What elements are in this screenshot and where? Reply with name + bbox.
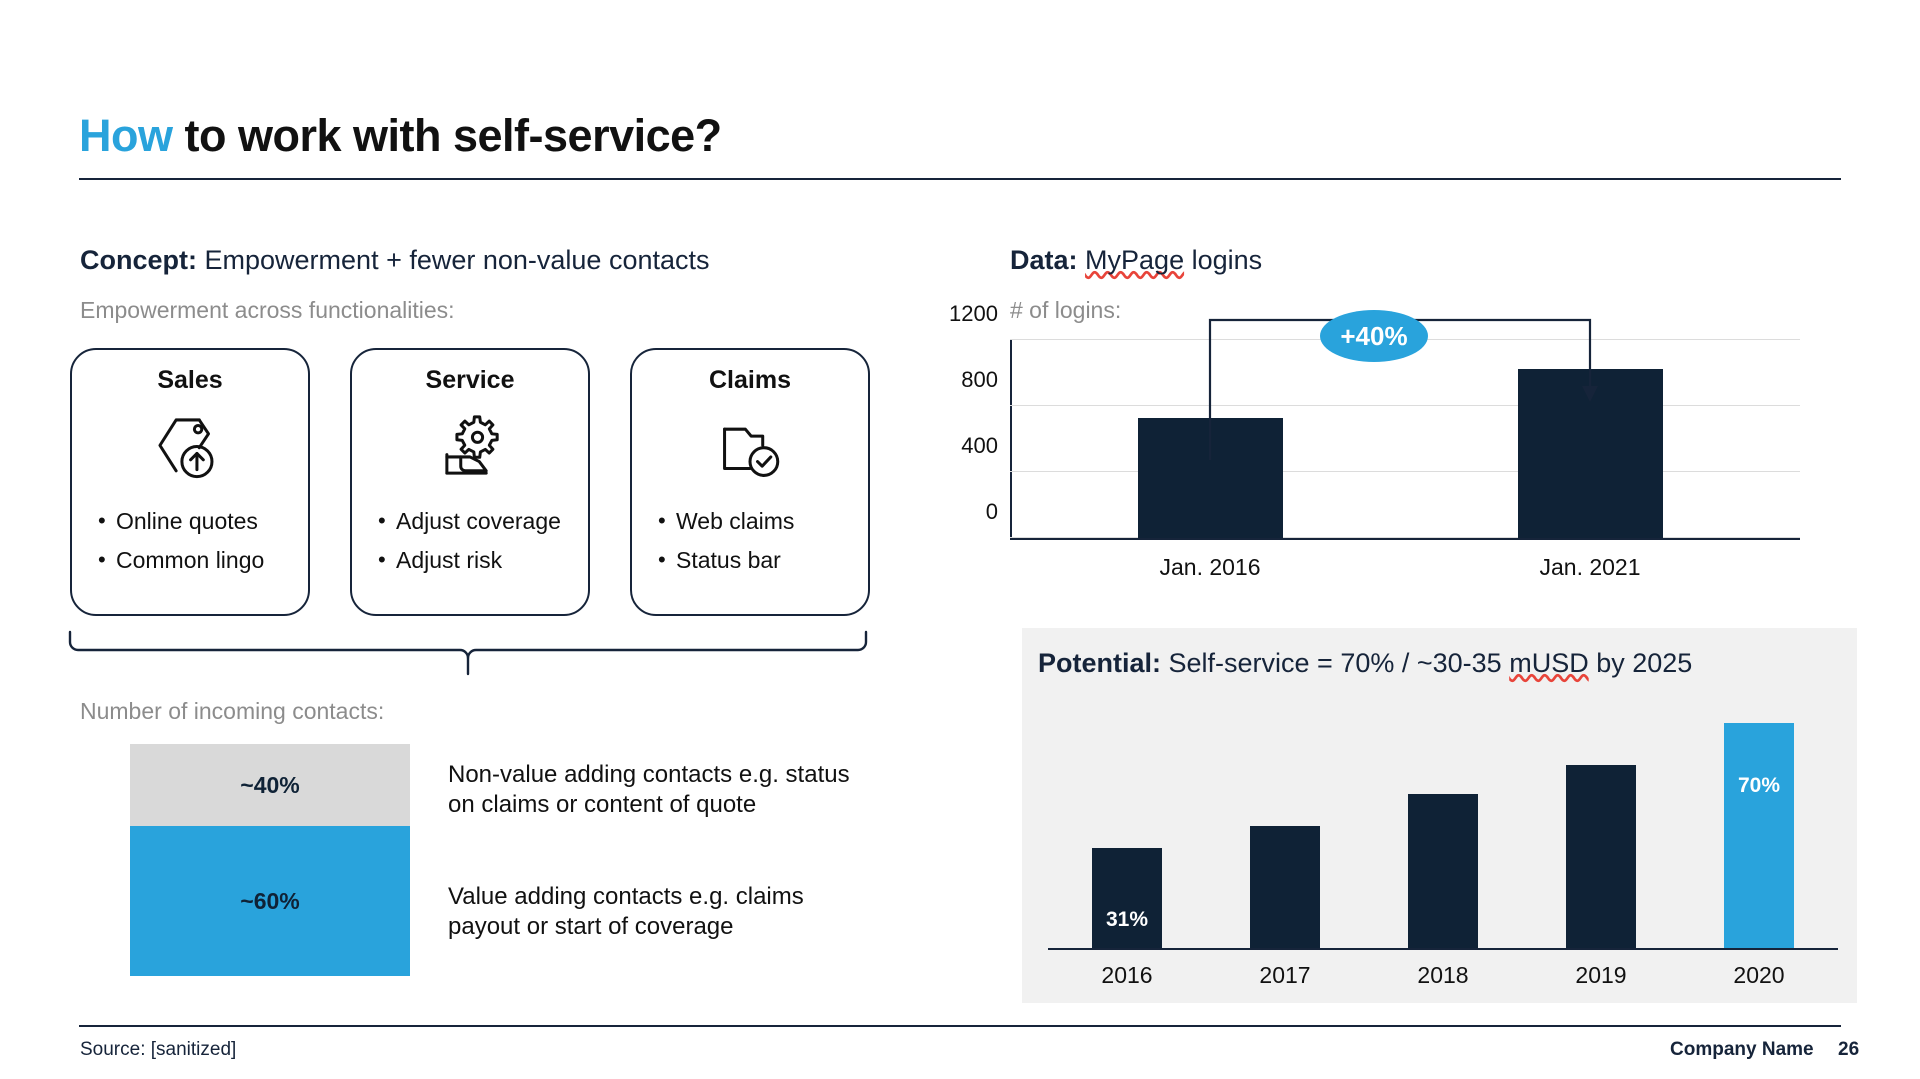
bullet-dot-icon: • bbox=[98, 509, 116, 533]
incoming-contacts-label: Number of incoming contacts: bbox=[80, 698, 384, 725]
bar-2017[interactable] bbox=[1250, 826, 1320, 948]
footer-divider bbox=[79, 1025, 1841, 1027]
stack-segment-value: ~60% bbox=[130, 826, 410, 976]
price-tag-arrow-up-icon bbox=[153, 407, 227, 493]
list-item: •Adjust coverage bbox=[378, 509, 588, 534]
contacts-stacked-bar: ~40% ~60% bbox=[130, 744, 410, 976]
growth-callout-badge: +40% bbox=[1320, 310, 1428, 362]
concept-header-bold: Concept: bbox=[80, 245, 197, 275]
title-divider bbox=[79, 178, 1841, 180]
potential-header-rest-b: by 2025 bbox=[1589, 648, 1693, 678]
x-tick-label: 2020 bbox=[1733, 962, 1784, 989]
page-number: 26 bbox=[1838, 1039, 1859, 1061]
slide-root: How to work with self-service? Concept: … bbox=[0, 0, 1920, 1079]
source-text: Source: [sanitized] bbox=[80, 1039, 236, 1061]
data-header-spellword: MyPage bbox=[1085, 245, 1184, 275]
company-name: Company Name bbox=[1670, 1039, 1814, 1061]
bar-value-label-2016: 31% bbox=[1106, 908, 1148, 932]
bullet-dot-icon: • bbox=[378, 548, 396, 572]
y-tick-label: 0 bbox=[986, 499, 1010, 525]
bullet-text: Adjust coverage bbox=[396, 509, 561, 534]
card-sales[interactable]: Sales •Online quotes •Common lingo bbox=[70, 348, 310, 616]
bullet-text: Status bar bbox=[676, 548, 781, 573]
card-title-claims: Claims bbox=[709, 366, 791, 395]
bullet-dot-icon: • bbox=[98, 548, 116, 572]
bullet-dot-icon: • bbox=[658, 548, 676, 572]
bullet-text: Web claims bbox=[676, 509, 794, 534]
card-bullets-service: •Adjust coverage •Adjust risk bbox=[352, 509, 588, 588]
bullet-text: Online quotes bbox=[116, 509, 258, 534]
potential-header: Potential: Self-service = 70% / ~30-35 m… bbox=[1038, 648, 1692, 679]
x-tick-label: Jan. 2021 bbox=[1539, 554, 1640, 581]
list-item: •Status bar bbox=[658, 548, 868, 573]
x-tick-label: 2019 bbox=[1575, 962, 1626, 989]
chart-potential-x-axis bbox=[1048, 948, 1838, 950]
folder-check-icon bbox=[713, 407, 787, 493]
stack-segment-nonvalue: ~40% bbox=[130, 744, 410, 826]
gridline-0 bbox=[1010, 537, 1800, 538]
bar-2019[interactable] bbox=[1566, 765, 1636, 948]
bullet-dot-icon: • bbox=[378, 509, 396, 533]
concept-header-rest: Empowerment + fewer non-value contacts bbox=[197, 245, 710, 275]
card-title-sales: Sales bbox=[157, 366, 222, 395]
bar-2016[interactable]: 31% bbox=[1092, 848, 1162, 948]
card-claims[interactable]: Claims •Web claims •Status bar bbox=[630, 348, 870, 616]
bullet-text: Common lingo bbox=[116, 548, 264, 573]
nonvalue-contacts-note: Non-value adding contacts e.g. status on… bbox=[448, 760, 878, 820]
potential-header-rest-a: Self-service = 70% / ~30-35 bbox=[1161, 648, 1509, 678]
chart-mypage-logins: 0 400 800 1200 Jan. 2016 Jan. 2021 bbox=[1010, 340, 1800, 540]
gridline-400 bbox=[1010, 471, 1800, 472]
page-title: How to work with self-service? bbox=[79, 110, 722, 162]
growth-connector-arrow-icon bbox=[1010, 278, 1800, 468]
chart-logins-x-axis bbox=[1010, 538, 1800, 540]
bullet-dot-icon: • bbox=[658, 509, 676, 533]
page-title-accent: How bbox=[79, 110, 173, 161]
chart-self-service-potential: 31% 70% 2016 2017 2018 2019 2020 bbox=[1048, 700, 1838, 950]
growth-callout-text: +40% bbox=[1340, 321, 1407, 352]
bar-2018[interactable] bbox=[1408, 794, 1478, 948]
list-item: •Common lingo bbox=[98, 548, 308, 573]
bar-value-label-2020: 70% bbox=[1738, 774, 1780, 798]
functionality-card-row: Sales •Online quotes •Common lingo Servi… bbox=[70, 348, 870, 616]
value-contacts-note: Value adding contacts e.g. claims payout… bbox=[448, 882, 878, 942]
y-tick-label: 800 bbox=[961, 367, 1010, 393]
card-title-service: Service bbox=[426, 366, 515, 395]
list-item: •Online quotes bbox=[98, 509, 308, 534]
card-bullets-claims: •Web claims •Status bar bbox=[632, 509, 868, 588]
potential-header-spellword: mUSD bbox=[1509, 648, 1589, 678]
bar-2020[interactable]: 70% bbox=[1724, 723, 1794, 948]
concept-header: Concept: Empowerment + fewer non-value c… bbox=[80, 245, 710, 276]
page-title-rest: to work with self-service? bbox=[173, 110, 722, 161]
x-tick-label: Jan. 2016 bbox=[1159, 554, 1260, 581]
gear-settings-icon bbox=[433, 407, 507, 493]
stack-segment-nonvalue-value: ~40% bbox=[240, 772, 299, 799]
card-service[interactable]: Service •Adjust coverage •Adjust risk bbox=[350, 348, 590, 616]
data-header-bold: Data: bbox=[1010, 245, 1078, 275]
data-header-rest: logins bbox=[1184, 245, 1262, 275]
stack-segment-value-value: ~60% bbox=[240, 888, 299, 915]
data-header: Data: MyPage logins bbox=[1010, 245, 1262, 276]
potential-header-bold: Potential: bbox=[1038, 648, 1161, 678]
y-tick-label: 1200 bbox=[949, 301, 1010, 327]
empowerment-label: Empowerment across functionalities: bbox=[80, 297, 455, 324]
card-bullets-sales: •Online quotes •Common lingo bbox=[72, 509, 308, 588]
x-tick-label: 2017 bbox=[1259, 962, 1310, 989]
grouping-brace-icon bbox=[68, 630, 888, 687]
x-tick-label: 2016 bbox=[1101, 962, 1152, 989]
list-item: •Web claims bbox=[658, 509, 868, 534]
list-item: •Adjust risk bbox=[378, 548, 588, 573]
y-tick-label: 400 bbox=[961, 433, 1010, 459]
x-tick-label: 2018 bbox=[1417, 962, 1468, 989]
bullet-text: Adjust risk bbox=[396, 548, 502, 573]
